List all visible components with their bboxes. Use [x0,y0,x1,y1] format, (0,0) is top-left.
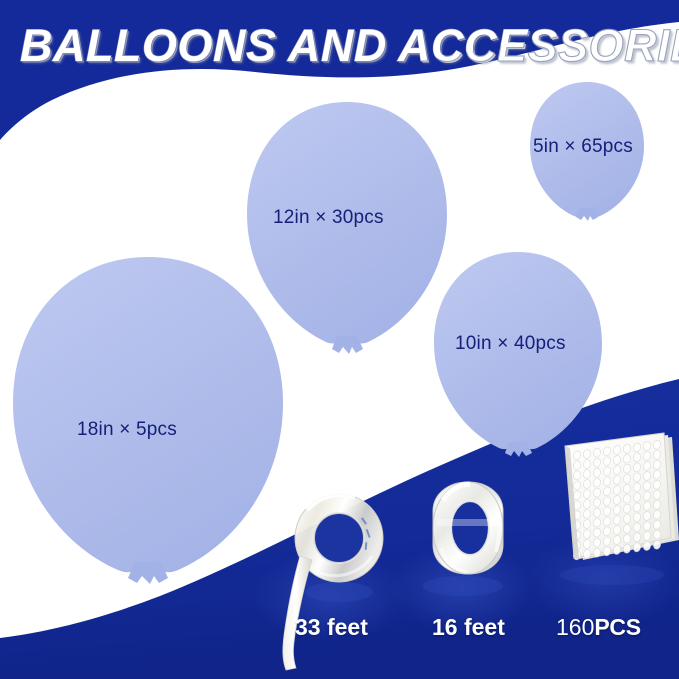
ribbon-roll-caption: 33 feet [295,614,368,641]
artwork-canvas [0,0,679,679]
glue-dot-count: 160 [556,614,594,640]
balloon-label-12in: 12in × 30pcs [273,207,384,229]
glue-dot-sheet-caption: 160PCS [556,614,641,641]
glue-dot-grid [573,440,660,560]
tape-roll-caption: 16 feet [432,614,505,641]
balloon-label-5in: 5in × 65pcs [533,136,633,158]
balloon-label-18in: 18in × 5pcs [77,419,177,441]
balloon-label-10in: 10in × 40pcs [455,333,566,355]
glue-dot-unit: PCS [594,614,640,640]
product-infographic: BALLOONS AND ACCESSORIES BALLOONS AND AC… [0,0,679,679]
